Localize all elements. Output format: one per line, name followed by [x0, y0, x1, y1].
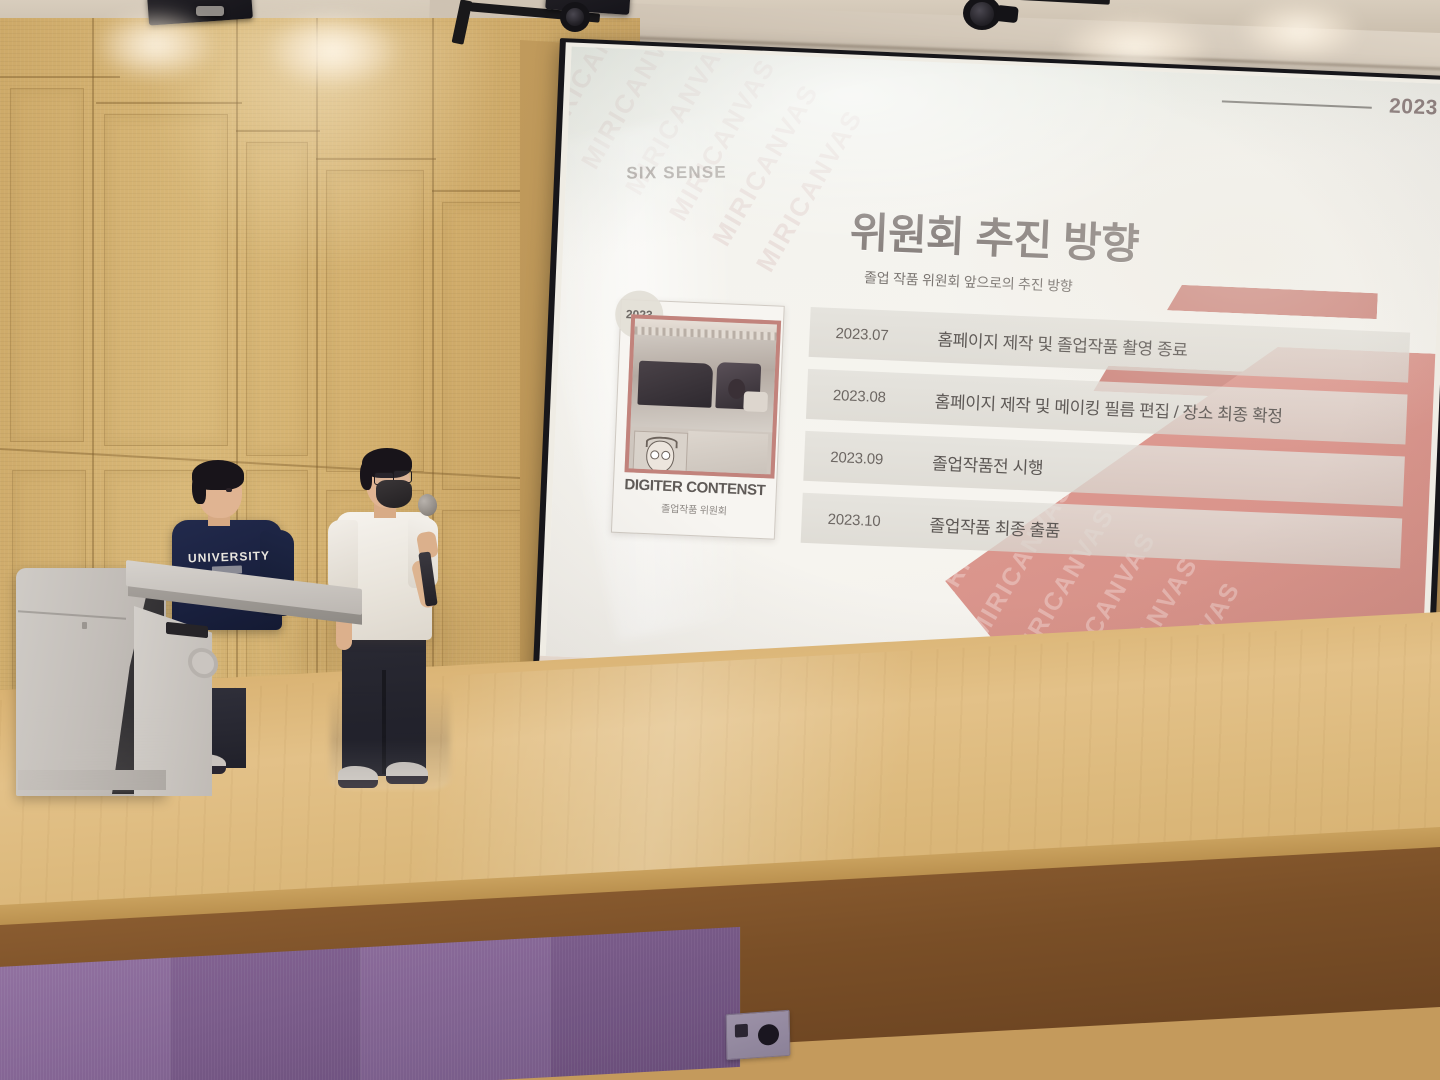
photo-scene: 2023 MIRICANVAS MIRICANVAS MIRICANVAS MI…: [0, 0, 1440, 1080]
poster-side-mirror: [743, 391, 768, 412]
timeline-date: 2023.09: [804, 447, 933, 469]
timeline-row: 2023.09 졸업작품전 시행: [803, 431, 1405, 507]
poster-subtitle: 졸업작품 위원회: [613, 498, 775, 520]
watermark-text: MIRICANVAS: [567, 47, 778, 180]
timeline-text: 졸업작품 최종 출품: [929, 511, 1061, 542]
spotlight-lens: [566, 8, 584, 26]
accent-slash-1: [1167, 284, 1378, 319]
watermark-text: MIRICANVAS: [546, 47, 734, 154]
slide-subtitle: 졸업 작품 위원회 앞으로의 추진 방향: [864, 267, 1073, 296]
poster-thumbnail: 2023: [611, 299, 785, 540]
podium-presenter-sideburn: [192, 474, 206, 504]
timeline-text: 홈페이지 제작 및 졸업작품 촬영 종료: [937, 325, 1188, 361]
presentation-slide: 2023 MIRICANVAS MIRICANVAS MIRICANVAS MI…: [546, 47, 1440, 694]
lectern: [16, 556, 346, 796]
lectern-lock: [82, 622, 87, 629]
six-sense-label: SIX SENSE: [626, 163, 727, 184]
shoe-sole-right: [386, 776, 428, 784]
poster-photo: [624, 314, 781, 478]
timeline-row: 2023.10 졸업작품 최종 출품: [801, 493, 1403, 569]
timeline-date: 2023.10: [801, 509, 930, 531]
stage-floor-port: [726, 1010, 791, 1060]
podium-presenter-eye: [226, 488, 232, 492]
timeline-row: 2023.07 홈페이지 제작 및 졸업작품 촬영 종료: [809, 307, 1411, 383]
presenter-sideburn: [360, 462, 372, 490]
poster-cartoon-hair: [646, 436, 678, 448]
floor-port-hole: [758, 1024, 779, 1046]
poster-car-window-left: [637, 361, 713, 408]
timeline-row: 2023.08 홈페이지 제작 및 메이킹 필름 편집 / 장소 최종 확정: [806, 369, 1408, 445]
slide-header-year: 2023: [1389, 95, 1439, 121]
slide-title: 위원회 추진 방향: [849, 199, 1141, 272]
timeline-date: 2023.08: [807, 385, 936, 407]
floor-port-jack: [735, 1024, 748, 1038]
watermark-text: MIRICANVAS: [654, 47, 865, 232]
spotlight-lens-right: [970, 2, 994, 26]
poster-car-door: [686, 431, 768, 479]
timeline-date: 2023.07: [809, 323, 938, 345]
timeline-text: 홈페이지 제작 및 메이킹 필름 편집 / 장소 최종 확정: [934, 387, 1283, 427]
lectern-base: [18, 770, 166, 790]
spotlight-yoke: [995, 5, 1019, 23]
header-rule: [1222, 100, 1372, 108]
timeline-list: 2023.07 홈페이지 제작 및 졸업작품 촬영 종료 2023.08 홈페이…: [800, 307, 1410, 580]
timeline-text: 졸업작품전 시행: [932, 449, 1044, 479]
poster-cartoon-panel: [632, 431, 688, 479]
poster-car: [630, 334, 776, 432]
trouser-crease: [382, 670, 386, 774]
face-mask: [376, 480, 412, 508]
poster-title: DIGITER CONTENST: [614, 476, 777, 500]
speaker-bracket: [196, 6, 224, 16]
